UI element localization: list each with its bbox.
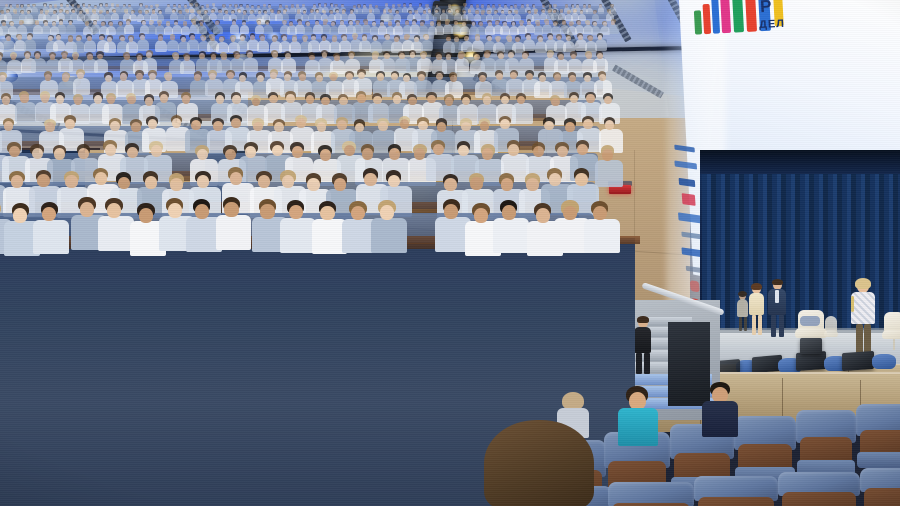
- camera-operator: [632, 318, 654, 374]
- audience-head: [421, 53, 427, 59]
- audience-torso: [53, 40, 65, 52]
- audience-head: [334, 55, 340, 61]
- audience-head: [514, 5, 517, 8]
- audience-head: [475, 11, 478, 14]
- audience-head: [216, 95, 224, 103]
- audience-head: [268, 5, 271, 8]
- audience-head: [474, 54, 480, 60]
- sponsor-logo-1: [671, 140, 698, 156]
- audience-member: [84, 34, 97, 52]
- audience-head: [116, 5, 119, 8]
- audience-head: [322, 36, 327, 41]
- audience-head: [69, 21, 73, 25]
- audience-head: [181, 37, 186, 42]
- audience-head: [107, 37, 112, 42]
- audience-head: [542, 10, 545, 13]
- audience-head: [577, 21, 581, 25]
- audience-head: [152, 10, 155, 13]
- audience-head: [231, 37, 236, 42]
- audience-head: [458, 145, 469, 156]
- audience-head: [515, 11, 518, 14]
- audience-head: [234, 53, 240, 59]
- audience-head: [190, 10, 193, 13]
- audience-head: [566, 36, 571, 41]
- audience-head: [250, 35, 255, 40]
- audience-head: [389, 148, 400, 159]
- seat-wood-shell: [864, 488, 900, 506]
- audience-head: [315, 21, 319, 25]
- stage-chair-3: [824, 316, 838, 346]
- audience-head: [113, 10, 116, 13]
- audience-member: [421, 34, 434, 52]
- audience-head: [437, 122, 447, 132]
- audience-torso: [417, 58, 432, 72]
- audience-member: [94, 51, 110, 74]
- audience-head: [66, 11, 69, 14]
- audience-head: [127, 147, 138, 158]
- audience-head: [303, 37, 308, 42]
- audience-head: [291, 5, 294, 8]
- audience-head: [342, 10, 345, 13]
- audience-head: [578, 35, 583, 40]
- audience-head: [306, 95, 314, 103]
- audience-head: [296, 118, 306, 128]
- audience-head: [501, 11, 504, 14]
- audience-head: [492, 5, 495, 8]
- audience-head: [66, 5, 69, 8]
- audience-head: [479, 75, 486, 82]
- audience-head: [385, 35, 390, 40]
- audience-head: [593, 22, 597, 26]
- audience-head: [420, 22, 424, 26]
- audience-head: [480, 121, 490, 131]
- audience-head: [476, 5, 479, 8]
- audience-head: [277, 11, 280, 14]
- audience-head: [239, 75, 246, 82]
- audience-head: [148, 119, 158, 129]
- audience-head: [560, 10, 563, 13]
- audience-head: [93, 11, 96, 14]
- audience-head: [292, 37, 297, 42]
- stage-monitor-3: [842, 351, 874, 371]
- audience-head: [87, 54, 93, 60]
- audience-head: [586, 53, 592, 59]
- audience-head: [470, 5, 473, 8]
- audience-head: [588, 5, 591, 8]
- audience-head: [380, 205, 394, 220]
- audience-head: [576, 5, 579, 8]
- audience-head: [206, 5, 209, 8]
- audience-head: [80, 202, 94, 217]
- audience-member: [523, 33, 536, 51]
- audience-head: [285, 53, 291, 59]
- audience-head: [307, 178, 320, 191]
- audience-head: [542, 5, 545, 8]
- audience-torso: [567, 59, 582, 73]
- audience-head: [482, 148, 493, 159]
- audience-head: [608, 11, 611, 14]
- audience-head: [565, 5, 568, 8]
- audience-member: [609, 19, 619, 34]
- audience-head: [44, 22, 48, 26]
- audience-head: [136, 73, 143, 80]
- audience-head: [140, 35, 145, 40]
- audience-torso: [33, 220, 69, 255]
- audience-head: [72, 4, 75, 7]
- audience-head: [356, 21, 360, 25]
- audience-head: [562, 21, 566, 25]
- audience-head: [444, 204, 458, 219]
- audience-head: [408, 97, 416, 105]
- audience-head: [544, 121, 554, 131]
- audience-head: [4, 121, 14, 131]
- audience-head: [118, 177, 131, 190]
- audience-head: [332, 37, 337, 42]
- audience-head: [454, 21, 458, 25]
- audience-head: [73, 54, 79, 60]
- audience-head: [165, 74, 172, 81]
- audience-head: [14, 11, 17, 14]
- audience-head: [319, 4, 322, 7]
- audience-head: [498, 53, 504, 59]
- audience-head: [37, 174, 50, 187]
- audience-head: [184, 55, 190, 61]
- audience-head: [87, 36, 92, 41]
- audience-head: [593, 206, 607, 221]
- audience-head: [302, 5, 305, 8]
- audience-head: [424, 35, 429, 40]
- audience-head: [32, 148, 43, 159]
- audience-head: [392, 5, 395, 8]
- audience-head: [503, 22, 507, 26]
- audience-head: [253, 122, 263, 132]
- audience-head: [56, 95, 64, 103]
- audience-member: [493, 200, 531, 255]
- audience-head: [586, 22, 590, 26]
- audience-head: [507, 37, 512, 42]
- audience-head: [86, 10, 89, 13]
- audience-head: [526, 35, 531, 40]
- empty-theater-seat[interactable]: [858, 468, 900, 506]
- audience-head: [260, 204, 274, 219]
- audience-head: [320, 149, 331, 160]
- audience-torso: [421, 40, 433, 52]
- audience-head: [213, 4, 216, 7]
- audience-head: [502, 205, 516, 220]
- audience-head: [353, 35, 358, 40]
- audience-head: [94, 6, 97, 9]
- audience-head: [158, 22, 162, 26]
- audience-head: [11, 175, 24, 188]
- audience-torso: [230, 24, 240, 33]
- audience-head: [583, 119, 593, 129]
- audience-torso: [371, 218, 407, 253]
- audience-head: [444, 178, 457, 191]
- audience-head: [383, 10, 386, 13]
- stage-person-man-navy-suit: [766, 280, 790, 338]
- empty-theater-seat[interactable]: [692, 476, 782, 506]
- audience-torso: [24, 39, 36, 51]
- audience-head: [349, 21, 353, 25]
- audience-head: [412, 21, 416, 25]
- audience-head: [258, 11, 261, 14]
- audience-head: [414, 37, 419, 42]
- audience-head: [549, 173, 562, 186]
- audience-head: [120, 73, 127, 80]
- audience-head: [388, 175, 401, 188]
- audience-head: [232, 21, 236, 25]
- audience-head: [372, 54, 378, 60]
- audience-head: [221, 54, 227, 60]
- audience-head: [344, 145, 355, 156]
- audience-head: [599, 5, 602, 8]
- audience-head: [251, 6, 254, 9]
- audience-head: [1, 11, 4, 14]
- empty-theater-seat[interactable]: [794, 410, 860, 474]
- audience-head: [375, 5, 378, 8]
- audience-member: [595, 33, 608, 51]
- audience-head: [50, 54, 56, 60]
- audience-head: [575, 173, 588, 186]
- audience-head: [342, 36, 347, 41]
- audience-head: [306, 22, 310, 26]
- audience-head: [496, 73, 503, 80]
- audience-head: [201, 6, 204, 9]
- audience-head: [536, 208, 550, 223]
- audience-torso: [523, 39, 535, 51]
- audience-head: [131, 122, 141, 132]
- audience-head: [611, 5, 614, 8]
- audience-head: [448, 5, 451, 8]
- audience-head: [396, 22, 400, 26]
- audience-torso: [257, 40, 269, 52]
- audience-head: [199, 53, 205, 59]
- audience-head: [340, 21, 344, 25]
- audience-head: [385, 4, 388, 7]
- audience-head: [106, 11, 109, 14]
- audience-torso: [213, 25, 223, 34]
- audience-head: [409, 11, 412, 14]
- audience-head: [362, 36, 367, 41]
- audience-head: [257, 6, 260, 9]
- audience-head: [470, 177, 483, 190]
- empty-theater-seat[interactable]: [776, 472, 864, 506]
- audience-head: [10, 22, 14, 26]
- audience-head: [213, 121, 223, 131]
- audience-head: [77, 72, 84, 79]
- audience-head: [405, 21, 409, 25]
- audience-head: [538, 37, 543, 42]
- audience-head: [533, 146, 544, 157]
- audience-head: [21, 11, 24, 14]
- audience-head: [17, 35, 22, 40]
- audience-head: [282, 175, 295, 188]
- audience-head: [611, 21, 615, 25]
- audience-head: [94, 95, 102, 103]
- audience-torso: [66, 24, 76, 33]
- audience-head: [292, 146, 303, 157]
- audience-head: [59, 21, 63, 25]
- audience-head: [351, 206, 365, 221]
- audience-member: [216, 197, 254, 252]
- front-attendee-suit: [700, 382, 740, 438]
- audience-head: [430, 22, 434, 26]
- audience-member: [243, 50, 259, 73]
- audience-head: [201, 36, 206, 41]
- audience-head: [461, 122, 471, 132]
- audience-head: [517, 96, 525, 104]
- audience-head: [437, 22, 441, 26]
- audience-member: [567, 51, 583, 74]
- audience-head: [554, 74, 561, 81]
- audience-head: [252, 98, 260, 106]
- audience-head: [192, 21, 196, 25]
- audience-head: [109, 22, 113, 26]
- audience-head: [479, 22, 483, 26]
- audience-head: [445, 97, 453, 105]
- audience-head: [504, 5, 507, 8]
- audience-head: [218, 10, 221, 13]
- audience-head: [41, 94, 49, 102]
- audience-head: [418, 74, 425, 81]
- audience-torso: [111, 13, 119, 21]
- microphone-icon: [851, 296, 854, 312]
- audience-head: [316, 75, 323, 82]
- audience-head: [309, 55, 315, 61]
- audience-head: [9, 146, 20, 157]
- audience-member: [371, 200, 409, 255]
- audience-head: [378, 121, 388, 131]
- audience-head: [289, 22, 293, 26]
- audience-member: [124, 19, 134, 34]
- audience-head: [257, 21, 261, 25]
- audience-head: [298, 21, 302, 25]
- audience-head: [182, 95, 190, 103]
- sponsor-logo-3: [673, 174, 700, 190]
- audience-head: [316, 10, 319, 13]
- audience-head: [223, 5, 226, 8]
- audience-head: [120, 37, 125, 42]
- audience-head: [62, 53, 68, 59]
- audience-head: [403, 4, 406, 7]
- audience-head: [145, 97, 153, 105]
- audience-head: [105, 4, 108, 7]
- audience-head: [283, 10, 286, 13]
- audience-head: [558, 54, 564, 60]
- audience-head: [142, 21, 146, 25]
- audience-head: [245, 146, 256, 157]
- audience-head: [534, 11, 537, 14]
- audience-head: [246, 5, 249, 8]
- audience-head: [399, 53, 405, 59]
- audience-head: [536, 22, 540, 26]
- audience-head: [195, 204, 209, 219]
- audience-head: [139, 208, 153, 223]
- audience-head: [372, 22, 376, 26]
- audience-head: [317, 122, 327, 132]
- audience-head: [20, 94, 28, 102]
- audience-head: [2, 96, 10, 104]
- audience-head: [54, 148, 65, 159]
- audience-head: [105, 75, 112, 82]
- audience-head: [2, 22, 6, 26]
- audience-head: [235, 5, 238, 8]
- audience-head: [603, 22, 607, 26]
- stage-person-assistant: [736, 292, 750, 332]
- audience-head: [183, 22, 187, 26]
- audience-head: [211, 54, 217, 60]
- audience-head: [209, 73, 216, 80]
- audience-head: [548, 35, 553, 40]
- audience-torso: [98, 216, 134, 251]
- audience-head: [145, 176, 158, 189]
- audience-head: [271, 10, 274, 13]
- audience-head: [409, 4, 412, 7]
- audience-head: [124, 54, 130, 60]
- audience-head: [282, 36, 287, 41]
- audience-head: [274, 122, 284, 132]
- audience-head: [149, 73, 156, 80]
- empty-theater-seat[interactable]: [606, 482, 698, 506]
- audience-head: [428, 10, 431, 13]
- audience-head: [350, 10, 353, 13]
- audience-head: [225, 149, 236, 160]
- seat-wood-shell: [782, 492, 856, 506]
- audience-head: [27, 5, 30, 8]
- audience-head: [526, 4, 529, 7]
- audience-head: [569, 75, 576, 82]
- audience-member: [263, 20, 273, 35]
- audience-head: [111, 4, 114, 7]
- audience-head: [168, 203, 182, 218]
- audience-head: [446, 54, 452, 60]
- audience-head: [334, 178, 347, 191]
- audience-head: [60, 4, 63, 7]
- audience-head: [195, 4, 198, 7]
- audience-head: [160, 94, 168, 102]
- audience-torso: [216, 215, 252, 250]
- audience-head: [526, 73, 533, 80]
- stage-confidence-monitor: [800, 338, 822, 354]
- audience-head: [520, 22, 524, 26]
- audience-head: [68, 37, 73, 42]
- audience-head: [257, 75, 264, 82]
- audience-head: [13, 208, 27, 223]
- audience-head: [289, 205, 303, 220]
- audience-head: [483, 96, 491, 104]
- audience-head: [179, 11, 182, 14]
- empty-theater-seat[interactable]: [854, 404, 900, 466]
- audience-head: [52, 22, 56, 26]
- audience-head: [25, 53, 31, 59]
- audience-head: [583, 5, 586, 8]
- sponsor-logo-4: [675, 191, 702, 208]
- audience-head: [184, 5, 187, 8]
- audience-head: [389, 10, 392, 13]
- audience-member: [66, 20, 76, 35]
- audience-head: [78, 148, 89, 159]
- audience-head: [464, 36, 469, 41]
- audience-head: [533, 5, 536, 8]
- audience-head: [377, 73, 384, 80]
- audience-hair: [0, 201, 1, 215]
- front-attendee-teal: [614, 386, 660, 446]
- audience-head: [487, 36, 492, 41]
- stage-person-speaker-light-blouse: [848, 280, 878, 360]
- audience-torso: [263, 25, 273, 34]
- audience-torso: [280, 218, 316, 253]
- audience-head: [240, 36, 245, 41]
